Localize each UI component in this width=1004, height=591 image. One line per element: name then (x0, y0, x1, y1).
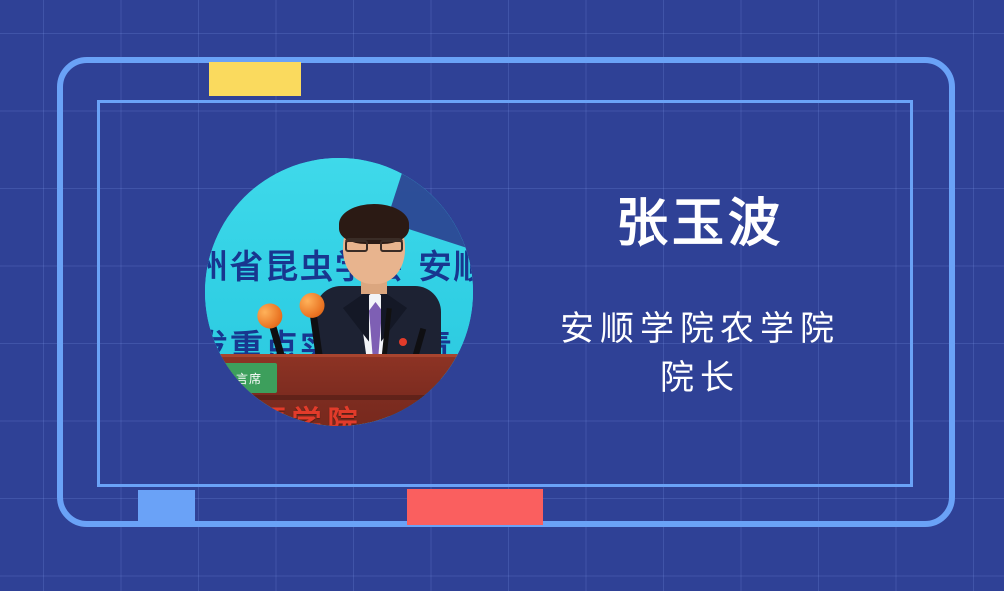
podium: 发言席 安顺学院 (205, 354, 473, 426)
speaker-affiliation: 安顺学院农学院 院长 (500, 305, 900, 404)
blue-accent-block (138, 490, 195, 527)
speaker-affiliation-line-2: 院长 (500, 354, 900, 403)
speaker-affiliation-line-1: 安顺学院农学院 (500, 305, 900, 354)
speaker-lapel-pin (399, 338, 407, 346)
podium-sign-label: 发言席 (223, 370, 262, 387)
speaker-portrait-circle: 州省昆虫学会 安顺 发重点实验 负责 发言席 安顺学院 (205, 158, 473, 426)
speaker-name: 张玉波 (500, 196, 900, 253)
podium-institution-text: 安顺学院 (219, 397, 363, 426)
speaker-glasses (345, 238, 403, 253)
podium-sign: 发言席 (207, 363, 277, 393)
slide-canvas: 州省昆虫学会 安顺 发重点实验 负责 发言席 安顺学院 张玉 (0, 0, 1004, 591)
yellow-accent-block (209, 62, 301, 96)
speaker-info-block: 张玉波 安顺学院农学院 院长 (500, 160, 900, 404)
red-accent-block (407, 489, 543, 525)
